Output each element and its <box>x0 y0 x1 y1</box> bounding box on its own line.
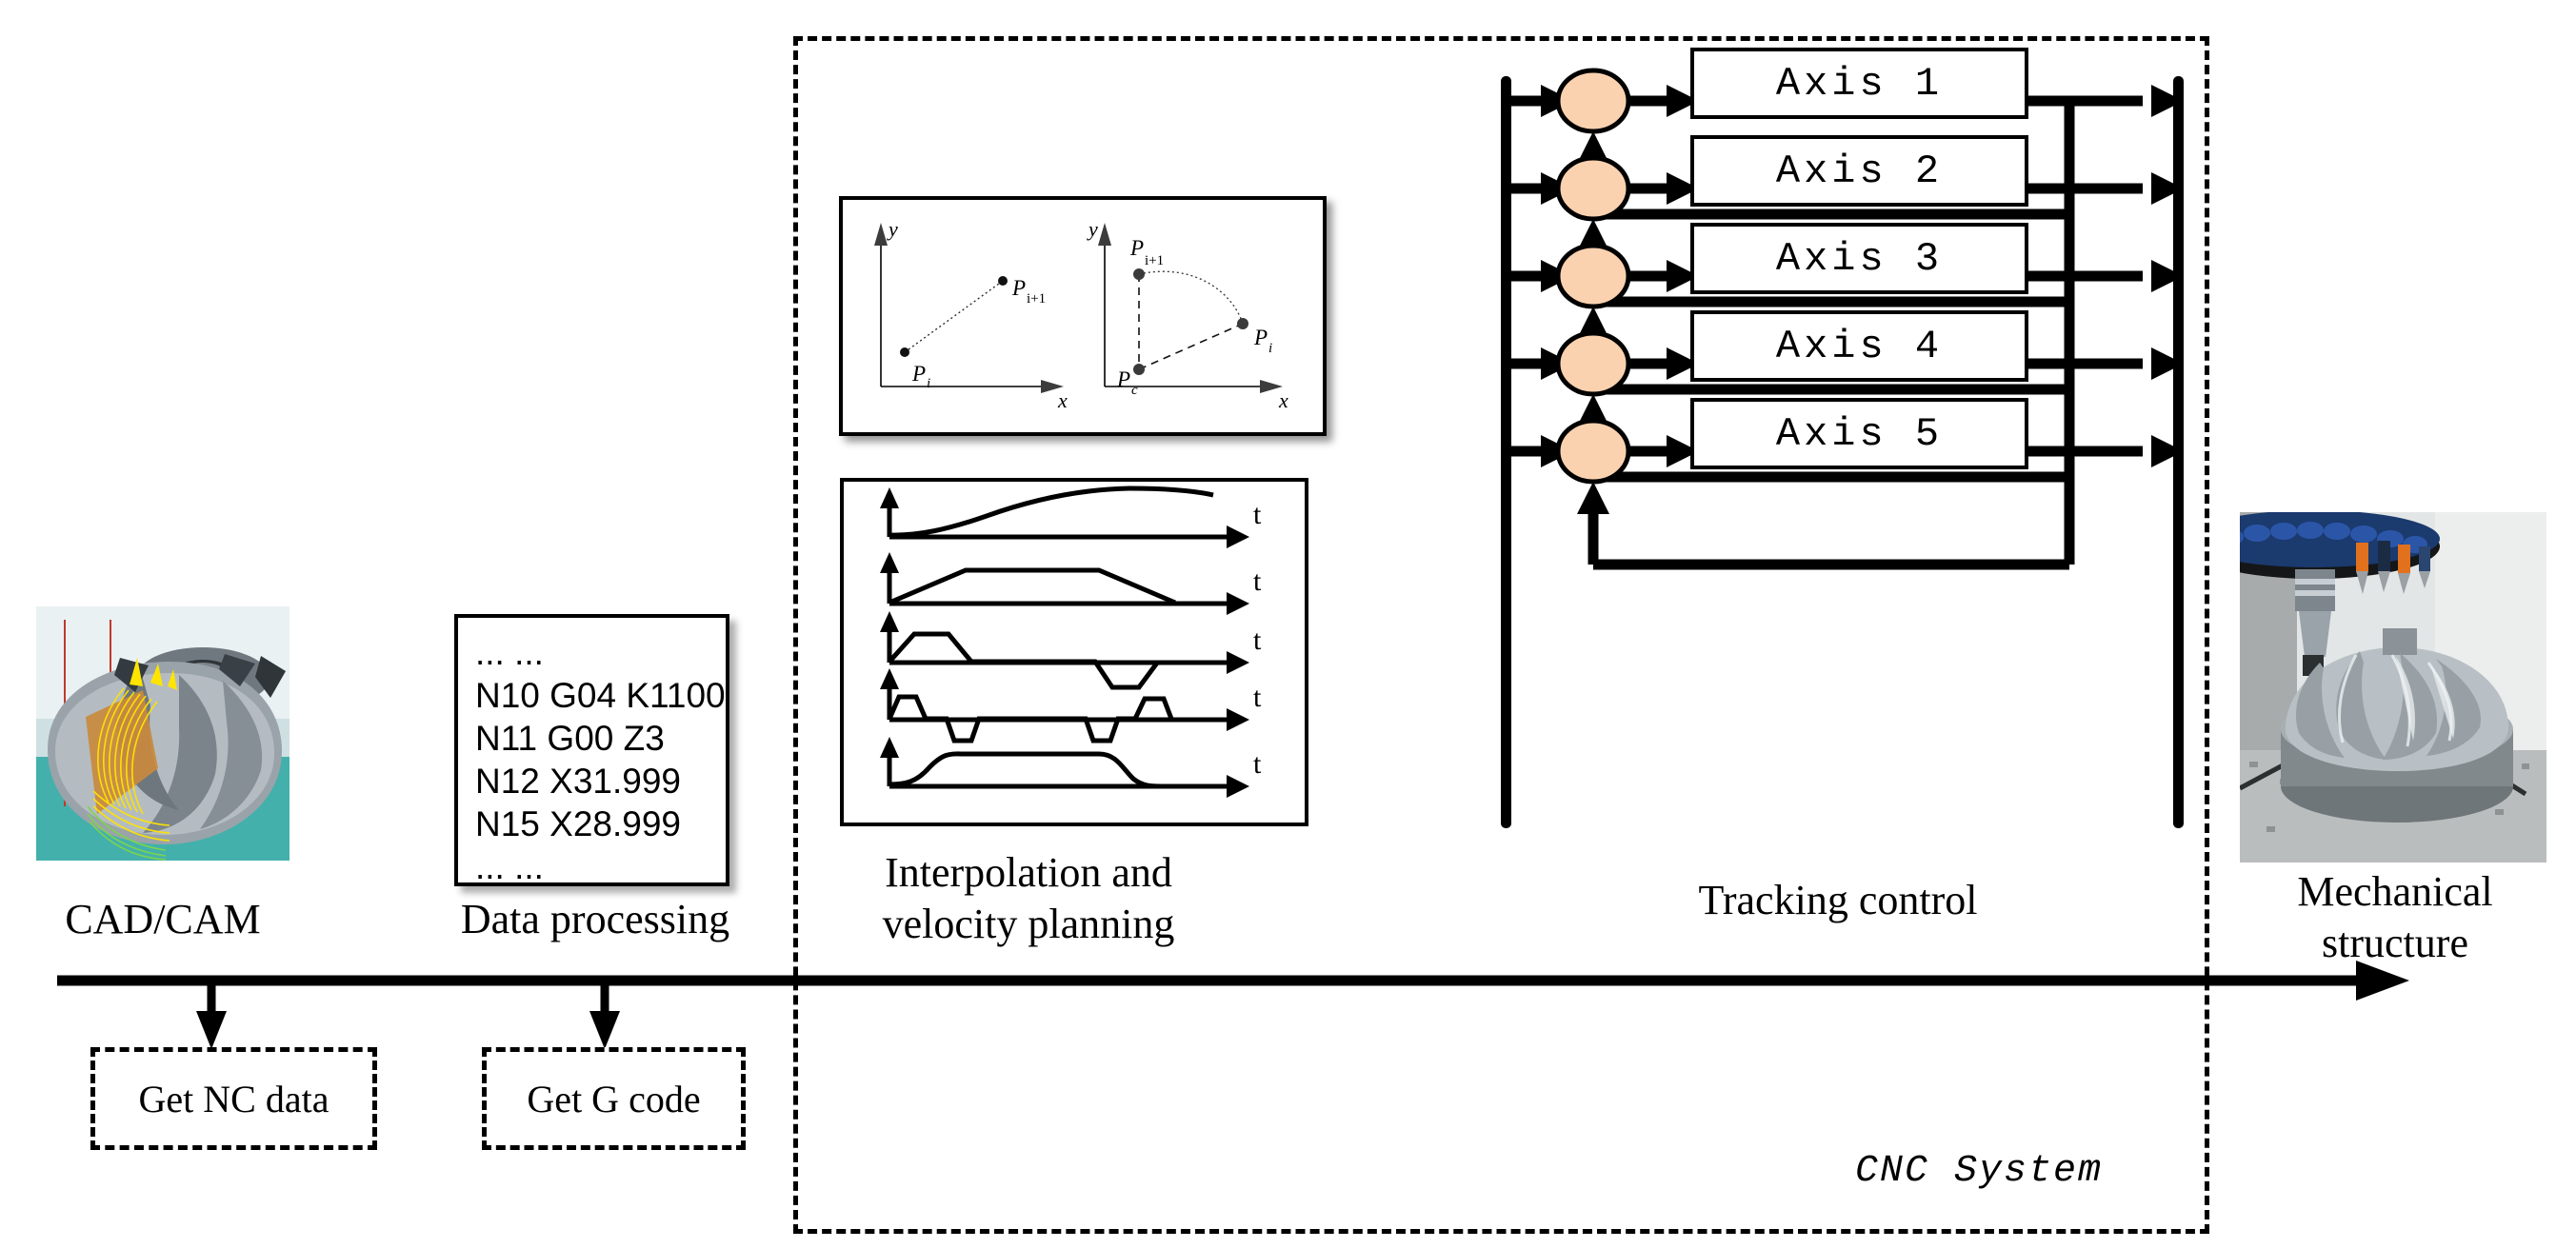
velocity-plot-acceleration: t <box>880 611 1262 687</box>
drop-arrow-2 <box>589 1011 620 1049</box>
svg-text:t: t <box>1253 565 1262 597</box>
process-timeline <box>0 942 2576 1114</box>
velocity-plot-jerk: t <box>880 668 1262 741</box>
svg-text:x: x <box>1278 388 1288 412</box>
tracking-control-group: Axis 1 Axis 2 Axis 3 Axis 4 Axis 5 <box>1486 76 2209 838</box>
get-g-code-box[interactable]: Get G code <box>482 1047 746 1150</box>
interpolation-label-line1: Interpolation and <box>819 847 1238 899</box>
svg-text:P: P <box>1011 276 1026 300</box>
svg-text:P: P <box>1116 367 1130 391</box>
svg-text:t: t <box>1253 499 1262 530</box>
gcode-listing-card: ... ... N10 G04 K1100 N11 G00 Z3 N12 X31… <box>454 614 729 886</box>
drop-arrow-1 <box>196 1011 227 1049</box>
gcode-text: ... ... N10 G04 K1100 N11 G00 Z3 N12 X31… <box>475 631 725 888</box>
command-bus-left <box>1501 76 1511 828</box>
tracking-control-label: Tracking control <box>1619 876 2057 924</box>
svg-text:t: t <box>1253 624 1262 656</box>
axis-block-2[interactable]: Axis 2 <box>1690 135 2028 207</box>
circular-interpolation-plot: y x P i+1 P i P c <box>1087 217 1288 412</box>
svg-text:y: y <box>887 217 898 241</box>
summing-junctions <box>1558 70 1628 482</box>
svg-text:x: x <box>1057 388 1068 412</box>
cadcam-label: CAD/CAM <box>36 895 290 943</box>
velocity-plot-position: t <box>880 487 1262 548</box>
cnc-system-label: CNC System <box>1855 1150 2103 1193</box>
svg-text:P: P <box>1129 236 1144 260</box>
svg-text:P: P <box>911 362 926 386</box>
cadcam-impeller-image <box>36 606 290 861</box>
mechanical-label-line1: Mechanical <box>2219 866 2571 918</box>
axis-block-3[interactable]: Axis 3 <box>1690 223 2028 294</box>
interpolation-plots-card: y x P i P i+1 y x <box>839 196 1327 436</box>
mechanical-structure-image <box>2240 512 2546 862</box>
velocity-plot-velocity: t <box>880 552 1262 615</box>
linear-interpolation-plot: y x P i P i+1 <box>874 217 1068 412</box>
get-nc-data-box[interactable]: Get NC data <box>90 1047 377 1150</box>
interpolation-label: Interpolation and velocity planning <box>819 847 1238 950</box>
svg-text:i+1: i+1 <box>1027 291 1046 307</box>
svg-text:c: c <box>1131 383 1138 398</box>
data-processing-label: Data processing <box>409 895 781 943</box>
svg-text:t: t <box>1253 682 1262 713</box>
axis-block-1[interactable]: Axis 1 <box>1690 48 2028 119</box>
cnc-system-diagram: CNC System <box>0 0 2576 1249</box>
svg-text:P: P <box>1253 326 1268 349</box>
svg-text:i+1: i+1 <box>1145 253 1164 268</box>
velocity-planning-card: t t t <box>840 478 1308 826</box>
velocity-plot-smoothed: t <box>880 737 1262 798</box>
timeline-arrowhead <box>2356 961 2409 1001</box>
axis-block-4[interactable]: Axis 4 <box>1690 310 2028 382</box>
svg-text:y: y <box>1087 217 1098 241</box>
svg-text:i: i <box>927 376 930 391</box>
axis-block-5[interactable]: Axis 5 <box>1690 398 2028 469</box>
svg-text:t: t <box>1253 748 1262 780</box>
svg-text:i: i <box>1268 341 1272 356</box>
